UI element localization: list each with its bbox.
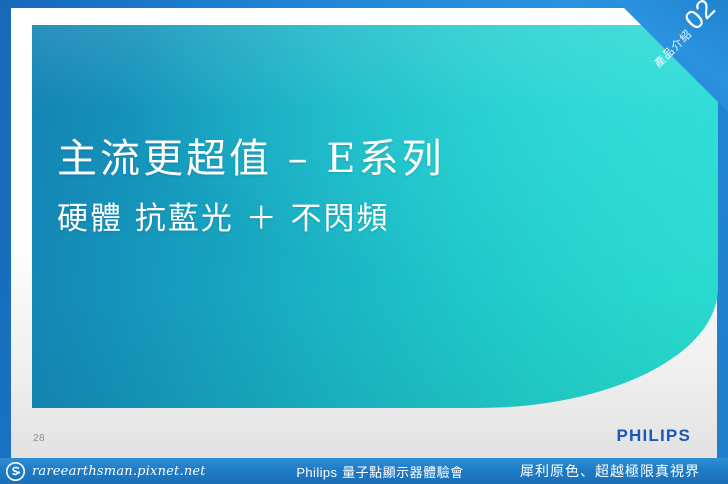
- pixnet-logo-icon: [6, 462, 25, 481]
- headline-subtitle: 硬體 抗藍光 ＋ 不閃頻: [57, 201, 445, 238]
- site-url-text[interactable]: rareearthsman.pixnet.net: [32, 464, 206, 479]
- philips-logo: PHILIPS: [616, 426, 691, 446]
- event-brand-name: Philips: [296, 465, 337, 480]
- bottom-bar-tagline: 犀利原色、超越極限真視界: [496, 461, 728, 481]
- page-number: 28: [33, 433, 45, 444]
- slide-page-surface: 主流更超值 – E系列 硬體 抗藍光 ＋ 不閃頻 28 PHILIPS: [11, 8, 717, 458]
- headline-main-title: 主流更超值 – E系列: [57, 136, 445, 183]
- headline-block: 主流更超值 – E系列 硬體 抗藍光 ＋ 不閃頻: [57, 136, 445, 238]
- bottom-status-bar: rareearthsman.pixnet.net Philips 量子點顯示器體…: [0, 458, 728, 484]
- bottom-bar-event-title: Philips 量子點顯示器體驗會: [264, 462, 496, 481]
- bottom-bar-left-group: rareearthsman.pixnet.net: [0, 462, 264, 481]
- event-title-text: 量子點顯示器體驗會: [342, 466, 464, 481]
- presentation-slide: 主流更超值 – E系列 硬體 抗藍光 ＋ 不閃頻 28 PHILIPS 產品介紹…: [0, 0, 728, 484]
